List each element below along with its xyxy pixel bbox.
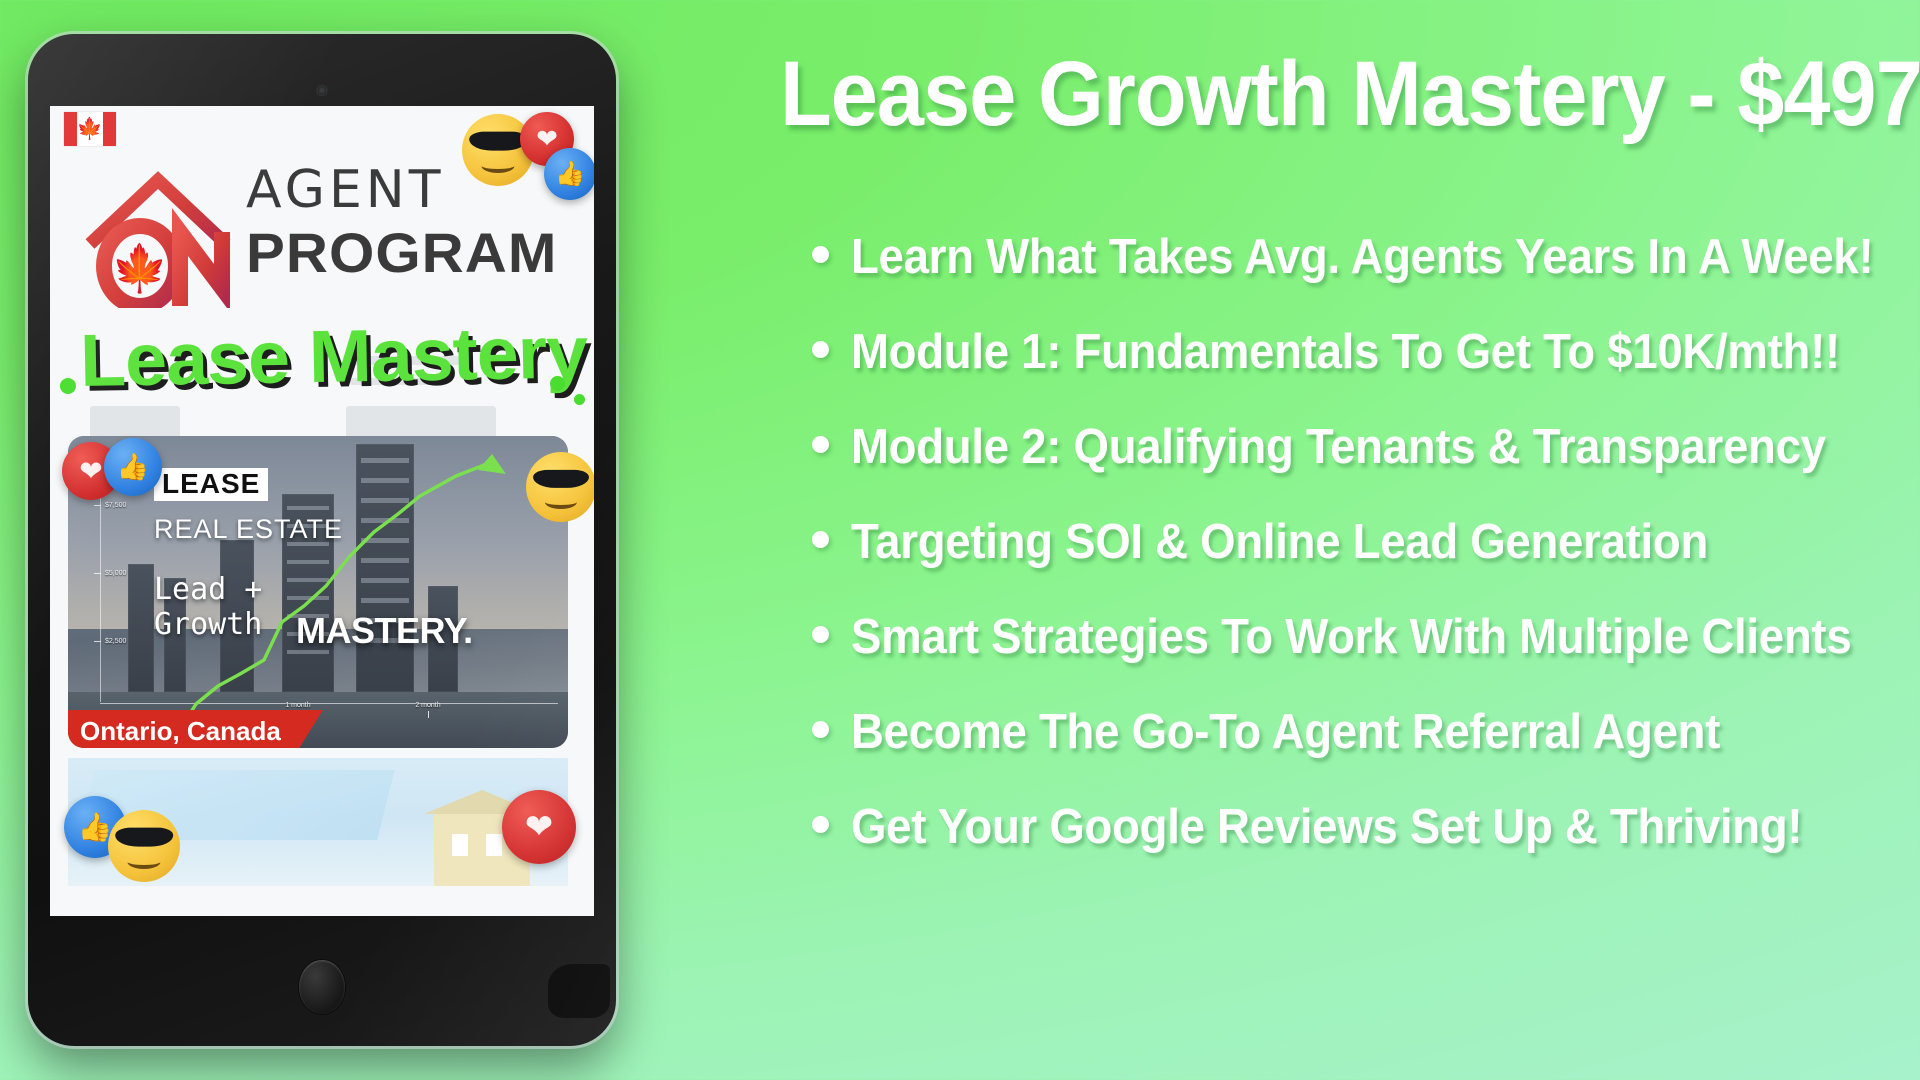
list-item: Smart Strategies To Work With Multiple C…	[812, 612, 1917, 663]
bullet-dot-icon	[812, 246, 829, 263]
page-title: Lease Growth Mastery - $497	[780, 48, 1820, 140]
list-item-label: Learn What Takes Avg. Agents Years In A …	[851, 232, 1873, 283]
course-title: Lease Mastery	[79, 315, 590, 398]
tablet-device: 🍁	[28, 34, 616, 1046]
list-item-label: Module 2: Qualifying Tenants & Transpare…	[851, 422, 1826, 473]
green-dot-decor	[550, 376, 565, 391]
heart-reaction-icon: ❤	[502, 790, 576, 864]
list-item-label: Get Your Google Reviews Set Up & Thrivin…	[851, 802, 1802, 853]
tagline: Lead + Growth	[154, 572, 262, 643]
screen-smudge	[548, 964, 610, 1018]
list-item-label: Targeting SOI & Online Lead Generation	[851, 517, 1708, 568]
list-item-label: Smart Strategies To Work With Multiple C…	[851, 612, 1851, 663]
bullet-dot-icon	[812, 816, 829, 833]
green-dot-decor	[574, 394, 585, 405]
real-estate-label: REAL ESTATE	[154, 514, 343, 545]
mastery-label: MASTERY.	[296, 610, 473, 652]
lease-badge: LEASE	[154, 468, 268, 501]
green-dot-decor	[60, 378, 76, 394]
list-item: Module 2: Qualifying Tenants & Transpare…	[812, 422, 1917, 473]
brand-text: AGENT PROGRAM	[246, 164, 576, 283]
home-button[interactable]	[299, 960, 345, 1014]
front-camera-icon	[318, 86, 327, 95]
offer-copy-panel: Lease Growth Mastery - $497 Learn What T…	[760, 0, 1920, 1080]
tablet-showcase: 🍁	[0, 0, 760, 1080]
location-ribbon: Ontario, Canada	[68, 710, 323, 748]
canadian-flag-icon: 🍁	[64, 112, 116, 146]
tagline-line-2: Growth	[154, 607, 262, 642]
svg-text:🍁: 🍁	[111, 241, 168, 295]
sunglasses-emoji	[108, 810, 180, 882]
tablet-screen: 🍁	[50, 106, 594, 916]
maple-leaf-glyph: 🍁	[77, 119, 103, 140]
list-item: Targeting SOI & Online Lead Generation	[812, 517, 1917, 568]
list-item-label: Become The Go-To Agent Referral Agent	[851, 707, 1720, 758]
bullet-dot-icon	[812, 531, 829, 548]
like-reaction-icon: 👍	[104, 438, 162, 496]
sunglasses-emoji	[526, 452, 594, 522]
bullet-dot-icon	[812, 626, 829, 643]
brand-program-label: PROGRAM	[246, 224, 589, 283]
list-item: Learn What Takes Avg. Agents Years In A …	[812, 232, 1917, 283]
list-item: Become The Go-To Agent Referral Agent	[812, 707, 1917, 758]
on-house-logo-icon: 🍁	[82, 162, 234, 308]
list-item: Get Your Google Reviews Set Up & Thrivin…	[812, 802, 1917, 853]
location-label: Ontario, Canada	[80, 716, 281, 747]
tagline-line-1: Lead +	[154, 572, 262, 607]
bullet-dot-icon	[812, 341, 829, 358]
feature-list: Learn What Takes Avg. Agents Years In A …	[812, 232, 1917, 897]
like-reaction-icon: 👍	[544, 148, 594, 200]
list-item: Module 1: Fundamentals To Get To $10K/mt…	[812, 327, 1917, 378]
list-item-label: Module 1: Fundamentals To Get To $10K/mt…	[851, 327, 1840, 378]
bullet-dot-icon	[812, 436, 829, 453]
bullet-dot-icon	[812, 721, 829, 738]
